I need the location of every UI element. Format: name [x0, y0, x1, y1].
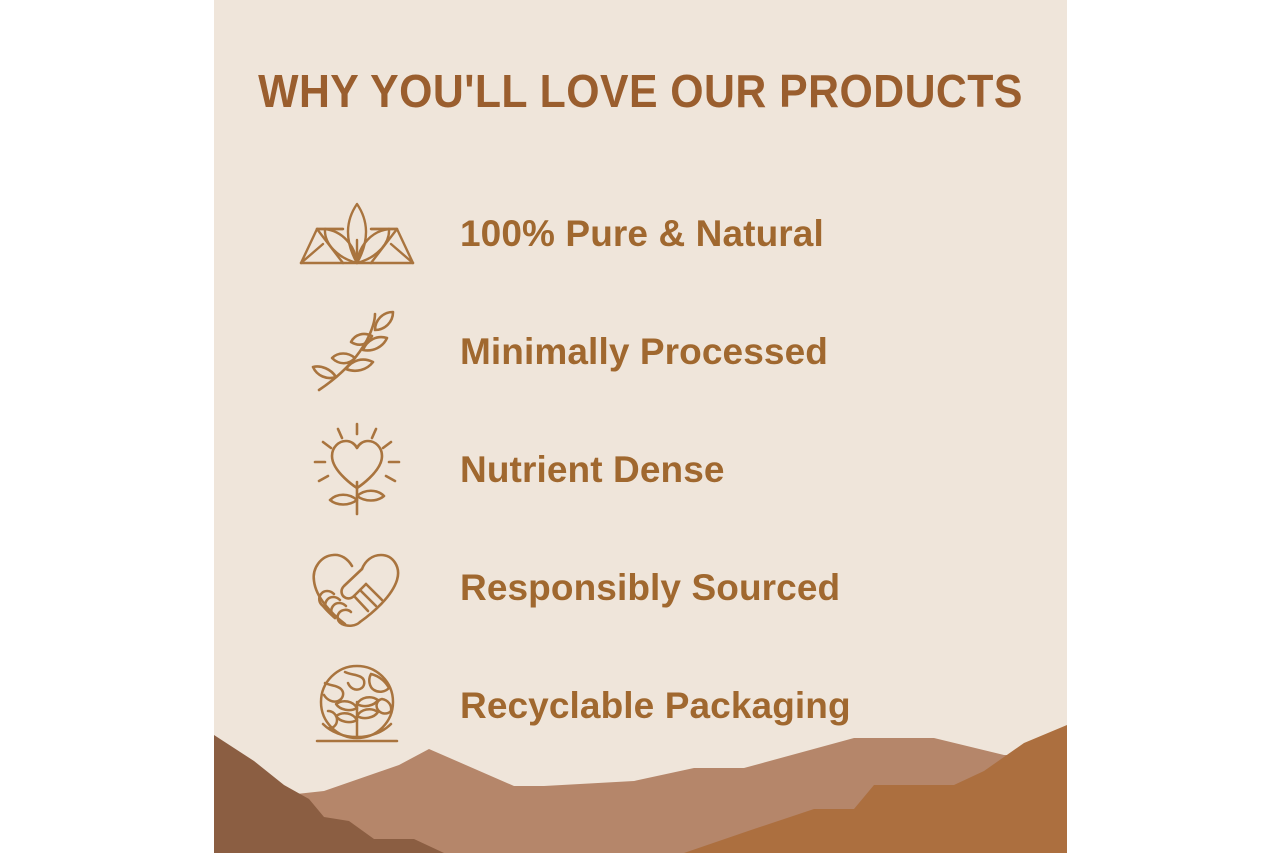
feature-label: Minimally Processed: [460, 333, 828, 372]
page-title: WHY YOU'LL LOVE OUR PRODUCTS: [244, 68, 1037, 114]
promo-panel: WHY YOU'LL LOVE OUR PRODUCTS: [214, 0, 1067, 853]
lotus-flower-icon: [292, 189, 422, 279]
list-item: Nutrient Dense: [292, 411, 992, 529]
list-item: Minimally Processed: [292, 293, 992, 411]
leaf-branch-icon: [292, 307, 422, 397]
handshake-heart-icon: [292, 543, 422, 633]
page-canvas: WHY YOU'LL LOVE OUR PRODUCTS: [0, 0, 1280, 853]
feature-label: Responsibly Sourced: [460, 569, 840, 608]
mountain-svg: [214, 713, 1067, 853]
feature-label: Nutrient Dense: [460, 451, 725, 490]
feature-list: 100% Pure & Natural: [292, 175, 992, 765]
list-item: 100% Pure & Natural: [292, 175, 992, 293]
heart-flower-icon: [292, 425, 422, 515]
mountain-decoration: [214, 713, 1067, 853]
list-item: Responsibly Sourced: [292, 529, 992, 647]
feature-label: 100% Pure & Natural: [460, 215, 824, 254]
